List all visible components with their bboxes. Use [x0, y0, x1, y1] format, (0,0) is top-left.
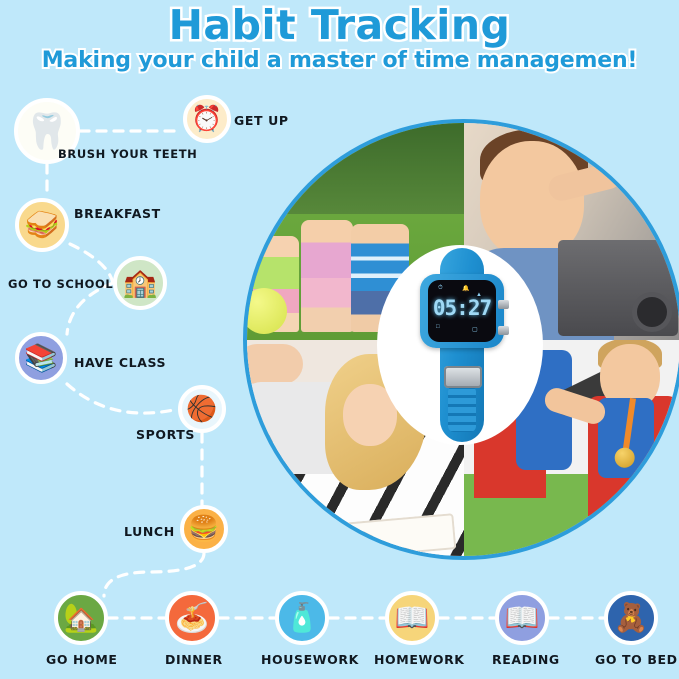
habit-label-brush-your-teeth: BRUSH YOUR TEETH — [58, 147, 197, 161]
books-icon: 📚 — [15, 332, 67, 384]
habit-label-go-home: GO HOME — [46, 652, 118, 667]
pasta-bowl-icon: 🍝 — [165, 591, 219, 645]
watch-battery-indicator: □ — [436, 324, 440, 330]
sandwich-icon: 🥪 — [15, 198, 69, 252]
house-icon: 🏡 — [54, 591, 108, 645]
burger-icon: 🍔 — [180, 505, 228, 553]
habit-label-sports: SPORTS — [136, 427, 195, 442]
watch-button-top[interactable] — [498, 300, 509, 309]
habit-label-breakfast: BREAKFAST — [74, 206, 161, 221]
watch-alarm-indicator: ⏱ — [438, 285, 443, 292]
habit-label-dinner: DINNER — [165, 652, 223, 667]
infographic-canvas: Habit Tracking Making your child a maste… — [0, 0, 679, 679]
habit-label-housework: HOUSEWORK — [261, 652, 359, 667]
page-title: Habit Tracking — [0, 4, 679, 47]
watch-buckle — [444, 366, 482, 388]
header: Habit Tracking Making your child a maste… — [0, 4, 679, 73]
cleaning-spray-icon: 🧴 — [275, 591, 329, 645]
watch-bell-indicator: 🔔 — [462, 285, 469, 292]
habit-label-reading: READING — [492, 652, 560, 667]
basketball-icon: 🏀 — [178, 385, 226, 433]
open-book-icon: 📖 — [495, 591, 549, 645]
alarm-clock-icon: ⏰ — [183, 95, 231, 143]
teddy-bear-icon: 🧸 — [604, 591, 658, 645]
product-watch: ⏱ 🔔 ▲ 05:27 □ ▢ — [398, 248, 522, 442]
watch-time-display: 05:27 — [432, 296, 492, 320]
habit-label-go-to-school: GO TO SCHOOL — [8, 277, 113, 291]
habit-label-homework: HOMEWORK — [374, 652, 465, 667]
notebook-pen-icon: 📖 — [385, 591, 439, 645]
school-icon: 🏫 — [113, 256, 167, 310]
watch-mode-indicator: ▢ — [472, 326, 478, 333]
watch-screen: ⏱ 🔔 ▲ 05:27 □ ▢ — [428, 280, 496, 342]
habit-label-lunch: LUNCH — [124, 524, 175, 539]
habit-label-get-up: GET UP — [234, 113, 289, 128]
habit-label-have-class: HAVE CLASS — [74, 355, 166, 370]
page-subtitle: Making your child a master of time manag… — [0, 49, 679, 73]
watch-button-bottom[interactable] — [498, 326, 509, 335]
habit-label-go-to-bed: GO TO BED — [595, 652, 678, 667]
